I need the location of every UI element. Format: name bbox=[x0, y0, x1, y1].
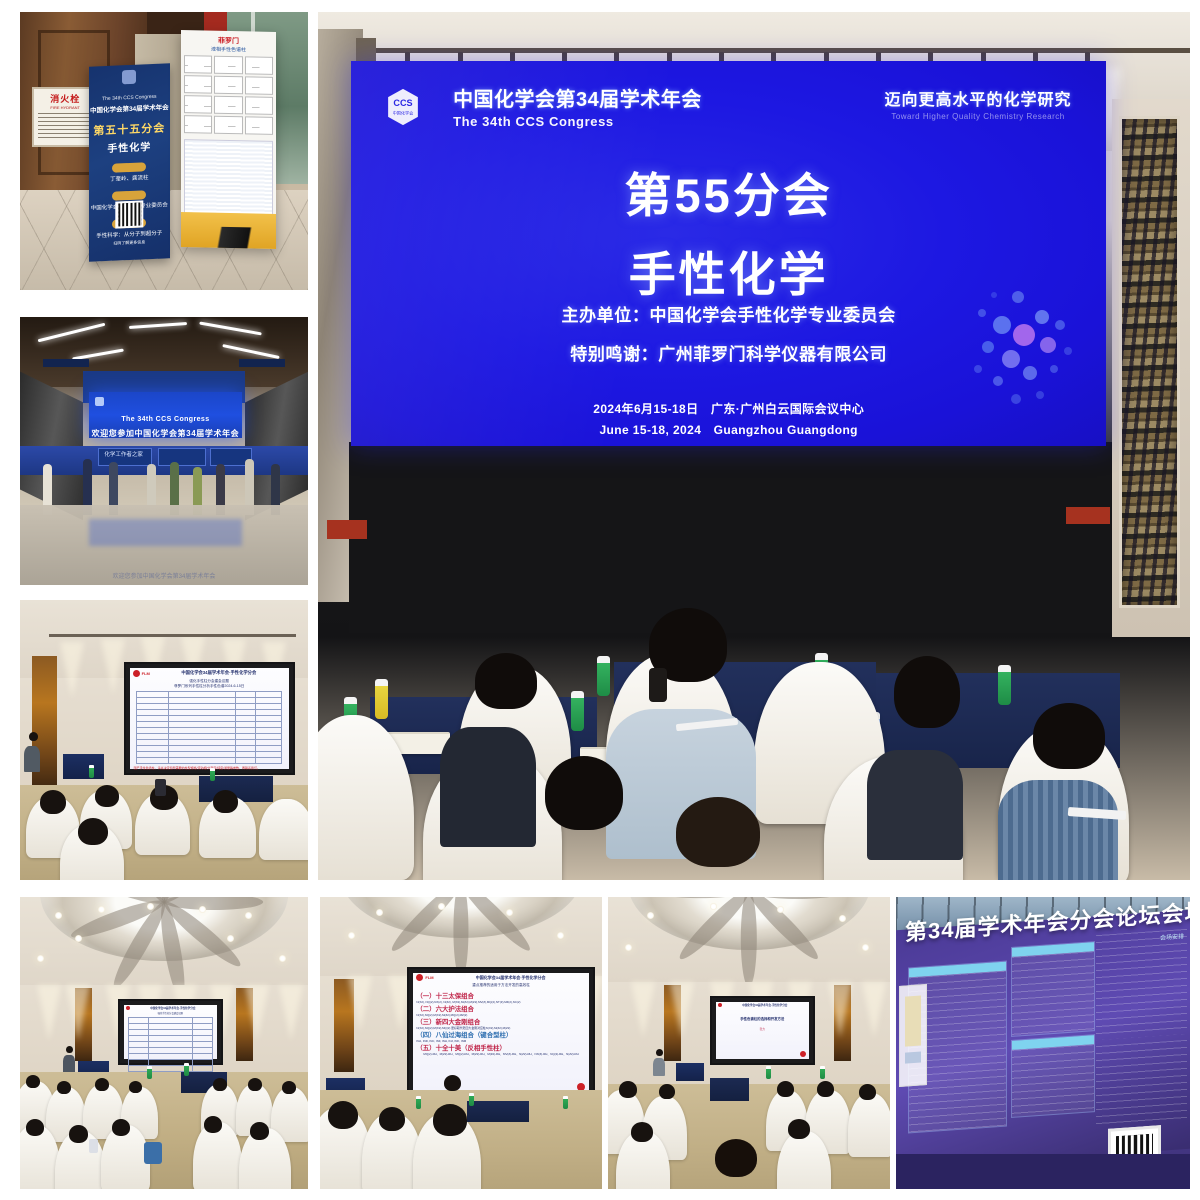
wall-relief-artwork bbox=[1119, 116, 1179, 608]
slide-date-cn: 2024年6月15-18日 广东·广州白云国际会议中心 bbox=[351, 400, 1106, 417]
photo-session-talk-slide: 中国化学会34届学术年会·手性化学分会 手性色谱柱的选择和开发方法 张力 bbox=[608, 897, 890, 1189]
fire-sign-en: FIRE HYDRANT bbox=[34, 105, 97, 110]
slide-header: 中国化学会34届学术年会·手性化学分会 bbox=[131, 1006, 215, 1010]
board-table-right-top bbox=[1096, 929, 1187, 1040]
slide-table bbox=[136, 691, 282, 764]
projection-screen-list: FLM 中国化学会34届学术年会·手性化学分会 重点推荐的适用于方法开发的高效柱… bbox=[407, 967, 594, 1099]
board-table-right-bottom bbox=[1096, 1040, 1187, 1128]
photo-venue-board: 第34届学术年会分会论坛会场安排 会场安排 bbox=[896, 897, 1190, 1189]
flm-logo-icon bbox=[133, 670, 140, 677]
slide-title-line2: 手性化学 bbox=[351, 236, 1106, 305]
rollup-title2: 手性化学 bbox=[89, 137, 170, 156]
rollup-qr-code bbox=[116, 200, 143, 229]
slide-title: 手性色谱柱的选择和开发方法 bbox=[718, 1016, 808, 1021]
photo-room-wide: 中国化学会34届学术年会·手性化学分会 强化手性柱分会建会议题 bbox=[20, 897, 308, 1189]
photo-main-stage: CCS 中国化学会 中国化学会第34届学术年会 The 34th CCS Con… bbox=[318, 12, 1190, 880]
ccs-logo-icon bbox=[95, 397, 104, 406]
board-map-panel bbox=[899, 984, 927, 1087]
group-label-4: （四）八仙过海组合（键合型柱） bbox=[416, 1030, 585, 1039]
slide-brand: FLM bbox=[142, 671, 150, 676]
slide-speaker: 张力 bbox=[718, 1027, 808, 1031]
presentation-slide: CCS 中国化学会 中国化学会第34届学术年会 The 34th CCS Con… bbox=[351, 61, 1106, 446]
flm-logo-icon bbox=[126, 1006, 130, 1010]
slide-tagline-cn: 迈向更高水平的化学研究 bbox=[885, 86, 1072, 110]
group-label-1: （一）十三太保组合 bbox=[416, 991, 585, 1000]
slide-date-en: June 15-18, 2024 Guangzhou Guangdong bbox=[351, 421, 1106, 438]
slide-title-block: 第55分会 手性化学 bbox=[351, 157, 1106, 305]
rollup-chairs: 丁奎岭、龚流柱 bbox=[89, 172, 170, 184]
slide-date-block: 2024年6月15-18日 广东·广州白云国际会议中心 June 15-18, … bbox=[351, 400, 1106, 438]
slide-organizer: 主办单位：中国化学会手性化学专业委员会 bbox=[351, 301, 1106, 326]
slide-header: 中国化学会34届学术年会·手性化学分会 bbox=[436, 975, 586, 981]
led-line-cn: 欢迎您参加中国化学会第34届学术年会 bbox=[89, 428, 242, 439]
svg-text:中国化学会: 中国化学会 bbox=[393, 110, 414, 116]
slide-sub2: 菲罗门系列手性柱分析手性色谱2024-6-15日 bbox=[130, 684, 289, 689]
rollup-title1: 第五十五分会 bbox=[89, 119, 170, 139]
projection-screen-left: FLM 中国化学会34届学术年会·手性化学分会 强化手性柱分会建会议题 菲罗门系… bbox=[124, 662, 295, 775]
photo-entrance-banners: 消火栓 FIRE HYDRANT The 34th CCS Congress 中… bbox=[20, 12, 308, 290]
svg-text:CCS: CCS bbox=[393, 99, 412, 109]
floor-reflection-text: 欢迎您参加中国化学会第34届学术年会 bbox=[20, 571, 308, 580]
photo-collage: 消火栓 FIRE HYDRANT The 34th CCS Congress 中… bbox=[0, 0, 1200, 1200]
slide-acknowledgement: 特别鸣谢：广州菲罗门科学仪器有限公司 bbox=[351, 340, 1106, 365]
flm-logo-icon bbox=[718, 1003, 722, 1007]
board-table-mid-top bbox=[1011, 941, 1095, 1036]
molecule-graphic bbox=[964, 273, 1084, 423]
slide-sub: 重点推荐的适用于方法开发的高效柱 bbox=[416, 983, 585, 988]
board-table-mid-bottom bbox=[1011, 1034, 1095, 1118]
slide-header: 中国化学会34届学术年会·手性化学分会 bbox=[723, 1003, 808, 1007]
vendor-poster-flm: 菲罗门 液相手性色谱柱 bbox=[181, 30, 276, 249]
projection-screen-wide: 中国化学会34届学术年会·手性化学分会 强化手性柱分会建会议题 bbox=[118, 999, 223, 1064]
phone-camera-icon bbox=[649, 668, 667, 702]
phone-icon bbox=[89, 1139, 98, 1153]
photo-session-hall-left: FLM 中国化学会34届学术年会·手性化学分会 强化手性柱分会建会议题 菲罗门系… bbox=[20, 600, 308, 880]
audience-foreground bbox=[318, 585, 1190, 880]
group-label-2: （二）六大护法组合 bbox=[416, 1004, 585, 1013]
group-label-3: （三）新四大金刚组合 bbox=[416, 1017, 585, 1026]
phone-camera-icon bbox=[155, 779, 166, 796]
booth-label: 化学工作者之家 bbox=[98, 450, 150, 463]
group-label-5: （五）十全十美（反相手性柱） bbox=[416, 1043, 585, 1052]
slide-affiliation-lines bbox=[718, 1036, 808, 1051]
slide-title-line1: 第55分会 bbox=[351, 157, 1106, 226]
slide-header-cn: 中国化学会第34届学术年会 bbox=[453, 90, 702, 111]
flm-logo-icon-footer bbox=[800, 1051, 806, 1057]
rollup-cn: 中国化学会第34届学术年会 bbox=[89, 101, 170, 115]
backpack bbox=[144, 1142, 162, 1164]
slide-sub1: 强化手性柱分会建会议题 bbox=[124, 1011, 217, 1015]
ccs-hexagon-logo: CCS 中国化学会 bbox=[386, 88, 420, 126]
photo-exhibition-hall: The 34th CCS Congress 欢迎您参加中国化学会第34届学术年会… bbox=[20, 317, 308, 585]
led-welcome-screen: The 34th CCS Congress 欢迎您参加中国化学会第34届学术年会 bbox=[89, 392, 242, 438]
slide-header: 中国化学会34届学术年会·手性化学分会 bbox=[152, 670, 286, 676]
slide-table bbox=[128, 1017, 213, 1078]
slide-tagline-block: 迈向更高水平的化学研究 Toward Higher Quality Chemis… bbox=[885, 86, 1072, 121]
group-items-5: MQ(2)-RH、M(Z2)-RH、MQ(2)-RH、M(Z2)-RH、M(Z2… bbox=[416, 1052, 585, 1056]
slide-brand: FLM bbox=[425, 975, 433, 980]
ccs-logo-icon bbox=[122, 70, 136, 85]
photo-session-list-slide: FLM 中国化学会34届学术年会·手性化学分会 重点推荐的适用于方法开发的高效柱… bbox=[320, 897, 602, 1189]
slide-header-en: The 34th CCS Congress bbox=[453, 114, 702, 129]
flm-logo-icon bbox=[416, 974, 423, 981]
projection-screen-talk: 中国化学会34届学术年会·手性化学分会 手性色谱柱的选择和开发方法 张力 bbox=[710, 996, 816, 1064]
led-line-en: The 34th CCS Congress bbox=[89, 416, 242, 423]
slide-tagline-en: Toward Higher Quality Chemistry Research bbox=[885, 112, 1072, 121]
podium bbox=[63, 754, 103, 779]
board-side-header: 会场安排 bbox=[1160, 931, 1184, 942]
slide-header-block: 中国化学会第34届学术年会 The 34th CCS Congress bbox=[453, 90, 702, 129]
rollup-banner-chiral: The 34th CCS Congress 中国化学会第34届学术年会 第五十五… bbox=[89, 63, 170, 261]
fire-sign-cn: 消火栓 bbox=[34, 89, 97, 105]
